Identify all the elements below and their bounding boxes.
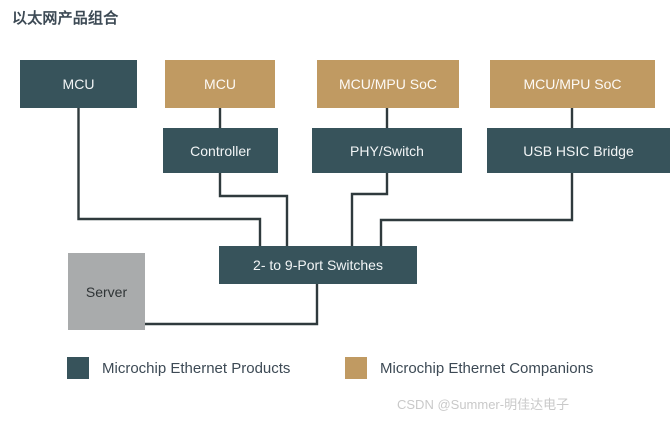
connector-port-switches-to-server [145, 284, 317, 324]
block-mcu-companion[interactable]: MCU [165, 60, 275, 108]
block-usb-hsic-bridge[interactable]: USB HSIC Bridge [487, 128, 670, 173]
block-label-mcu-product: MCU [63, 76, 95, 92]
block-label-controller: Controller [190, 143, 251, 159]
legend-swatch-product [67, 357, 89, 379]
block-controller[interactable]: Controller [163, 128, 278, 173]
block-label-soc-phy: MCU/MPU SoC [339, 76, 437, 92]
block-phy-switch[interactable]: PHY/Switch [312, 128, 462, 173]
block-label-port-switches: 2- to 9-Port Switches [253, 257, 383, 273]
block-label-mcu-companion: MCU [204, 76, 236, 92]
legend-swatch-companion [345, 357, 367, 379]
block-soc-phy[interactable]: MCU/MPU SoC [317, 60, 459, 108]
legend-label-companion: Microchip Ethernet Companions [380, 360, 593, 377]
block-soc-usb[interactable]: MCU/MPU SoC [490, 60, 655, 108]
connector-phy-switch-to-port-switches [352, 173, 387, 246]
block-port-switches[interactable]: 2- to 9-Port Switches [219, 246, 417, 284]
connector-usb-hsic-bridge-to-port-switches [381, 173, 572, 246]
block-server[interactable]: Server [68, 253, 145, 330]
legend-label-product: Microchip Ethernet Products [102, 360, 290, 377]
watermark: CSDN @Summer-明佳达电子 [397, 394, 569, 413]
page-title: 以太网产品组合 [12, 7, 118, 28]
block-label-usb-hsic-bridge: USB HSIC Bridge [523, 143, 633, 159]
block-mcu-product[interactable]: MCU [20, 60, 137, 108]
diagram-canvas: 以太网产品组合 MCUMCUMCU/MPU SoCMCU/MPU SoCCont… [0, 0, 670, 421]
block-label-soc-usb: MCU/MPU SoC [523, 76, 621, 92]
legend-item-companion: Microchip Ethernet Companions [345, 357, 593, 379]
block-label-phy-switch: PHY/Switch [350, 143, 424, 159]
legend-item-product: Microchip Ethernet Products [67, 357, 290, 379]
block-label-server: Server [86, 284, 127, 300]
connector-controller-to-port-switches [220, 173, 287, 246]
